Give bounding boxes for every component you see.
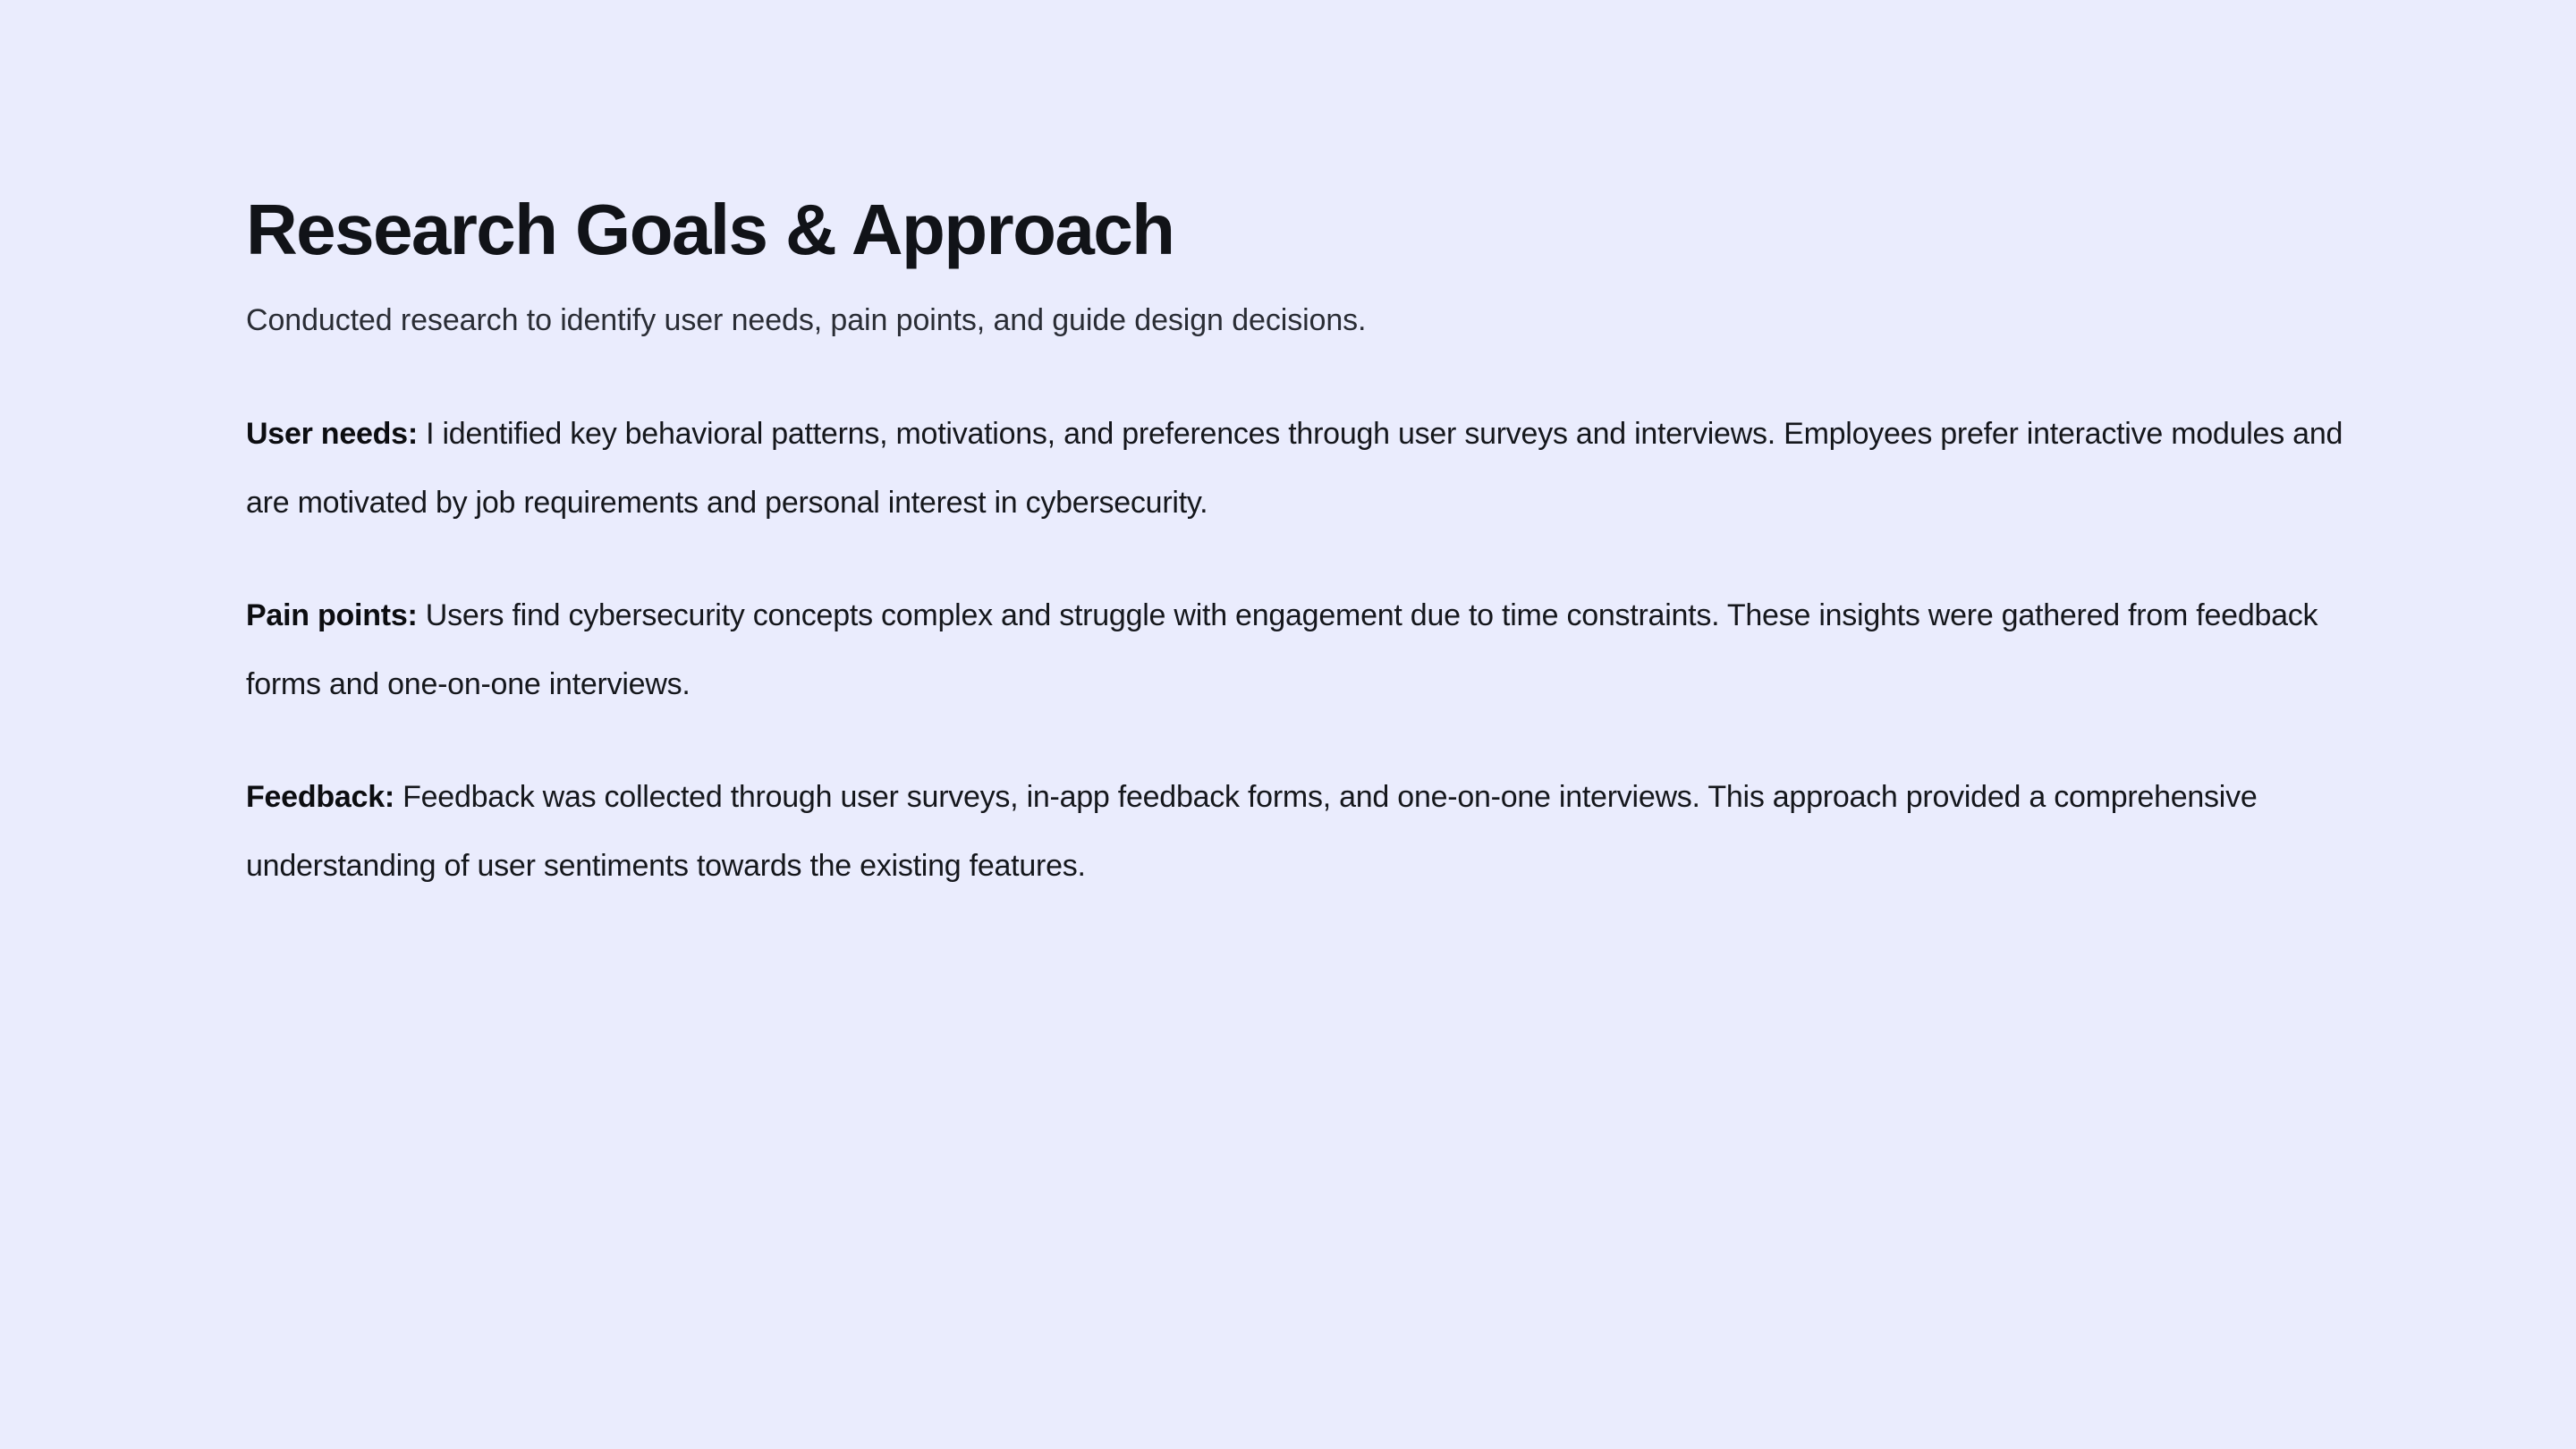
paragraph-text-feedback: Feedback was collected through user surv… [246,780,2258,883]
paragraph-lead-in-pain-points: Pain points: [246,598,418,632]
paragraph-feedback: Feedback: Feedback was collected through… [246,763,2348,901]
paragraph-text-user-needs: I identified key behavioral patterns, mo… [246,417,2343,520]
slide-canvas: Research Goals & Approach Conducted rese… [0,0,2576,1449]
paragraph-user-needs: User needs: I identified key behavioral … [246,400,2348,538]
page-title: Research Goals & Approach [246,190,2357,270]
paragraph-lead-in-user-needs: User needs: [246,417,426,451]
content-container: Research Goals & Approach Conducted rese… [246,190,2357,901]
paragraph-text-pain-points: Users find cybersecurity concepts comple… [246,598,2318,701]
paragraph-pain-points: Pain points: Users find cybersecurity co… [246,581,2348,719]
body-paragraph-list: User needs: I identified key behavioral … [246,400,2357,901]
paragraph-lead-in-feedback: Feedback: [246,780,394,814]
page-subtitle: Conducted research to identify user need… [246,299,2357,343]
